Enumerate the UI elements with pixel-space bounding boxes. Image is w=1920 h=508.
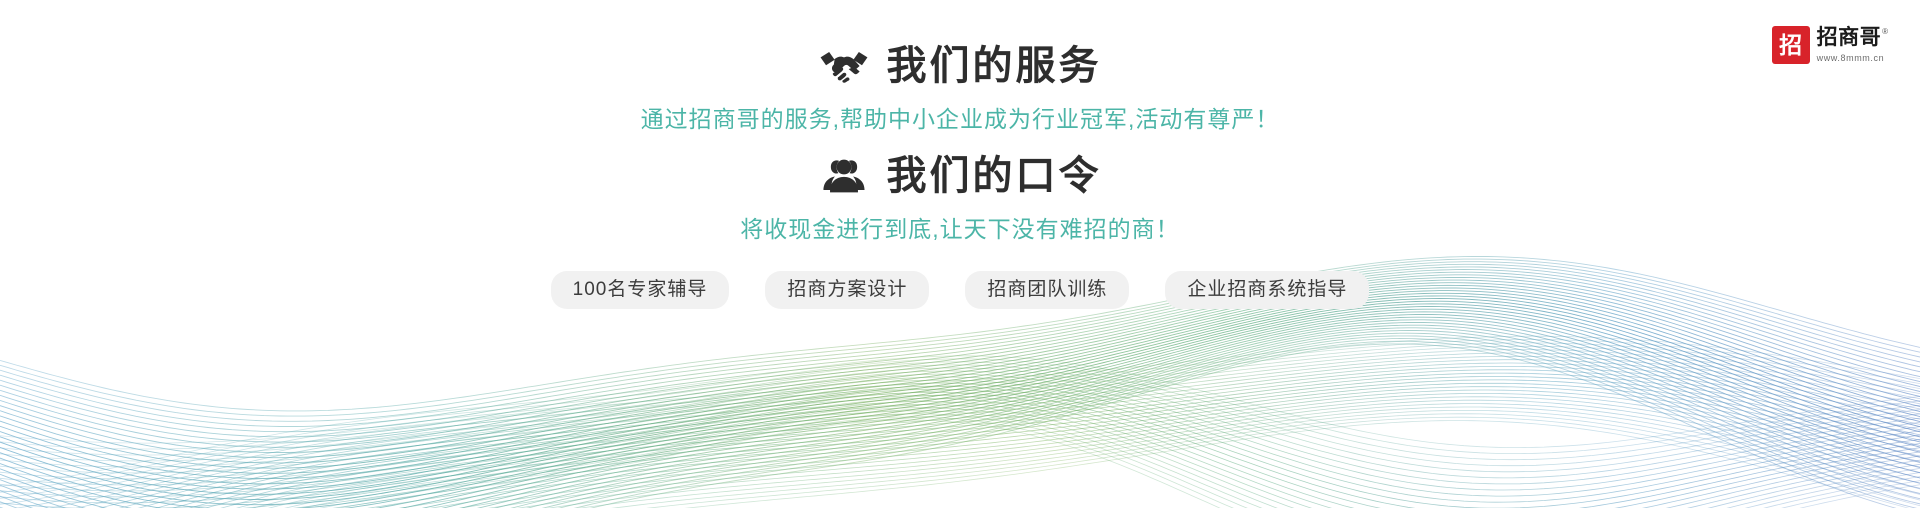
service-banner: 招 招商哥 ® www.8mmm.cn (0, 0, 1920, 508)
registered-mark: ® (1882, 28, 1888, 36)
service-tag[interactable]: 招商方案设计 (765, 271, 929, 309)
section-subtitle-services: 通过招商哥的服务,帮助中小企业成为行业冠军,活动有尊严！ (641, 106, 1280, 134)
logo-website-url: www.8mmm.cn (1817, 54, 1888, 63)
section-heading-slogan: 我们的口令 (819, 154, 1102, 198)
brand-logo[interactable]: 招 招商哥 ® www.8mmm.cn (1772, 26, 1888, 64)
logo-mark-icon: 招 (1772, 26, 1810, 64)
banner-content: 我们的服务 通过招商哥的服务,帮助中小企业成为行业冠军,活动有尊严！ 我们的口令… (0, 0, 1920, 309)
section-heading-text: 我们的服务 (887, 44, 1102, 88)
section-heading-services: 我们的服务 (819, 44, 1102, 88)
handshake-icon (819, 44, 869, 88)
logo-name: 招商哥 (1817, 27, 1882, 49)
service-tag[interactable]: 招商团队训练 (965, 271, 1129, 309)
logo-text-block: 招商哥 ® www.8mmm.cn (1817, 27, 1888, 62)
service-tag[interactable]: 100名专家辅导 (551, 271, 730, 309)
section-heading-text: 我们的口令 (887, 154, 1102, 198)
service-tag[interactable]: 企业招商系统指导 (1165, 271, 1369, 309)
users-icon (819, 154, 869, 198)
service-tag-list: 100名专家辅导 招商方案设计 招商团队训练 企业招商系统指导 (551, 271, 1370, 309)
section-subtitle-slogan: 将收现金进行到底,让天下没有难招的商！ (740, 216, 1179, 244)
